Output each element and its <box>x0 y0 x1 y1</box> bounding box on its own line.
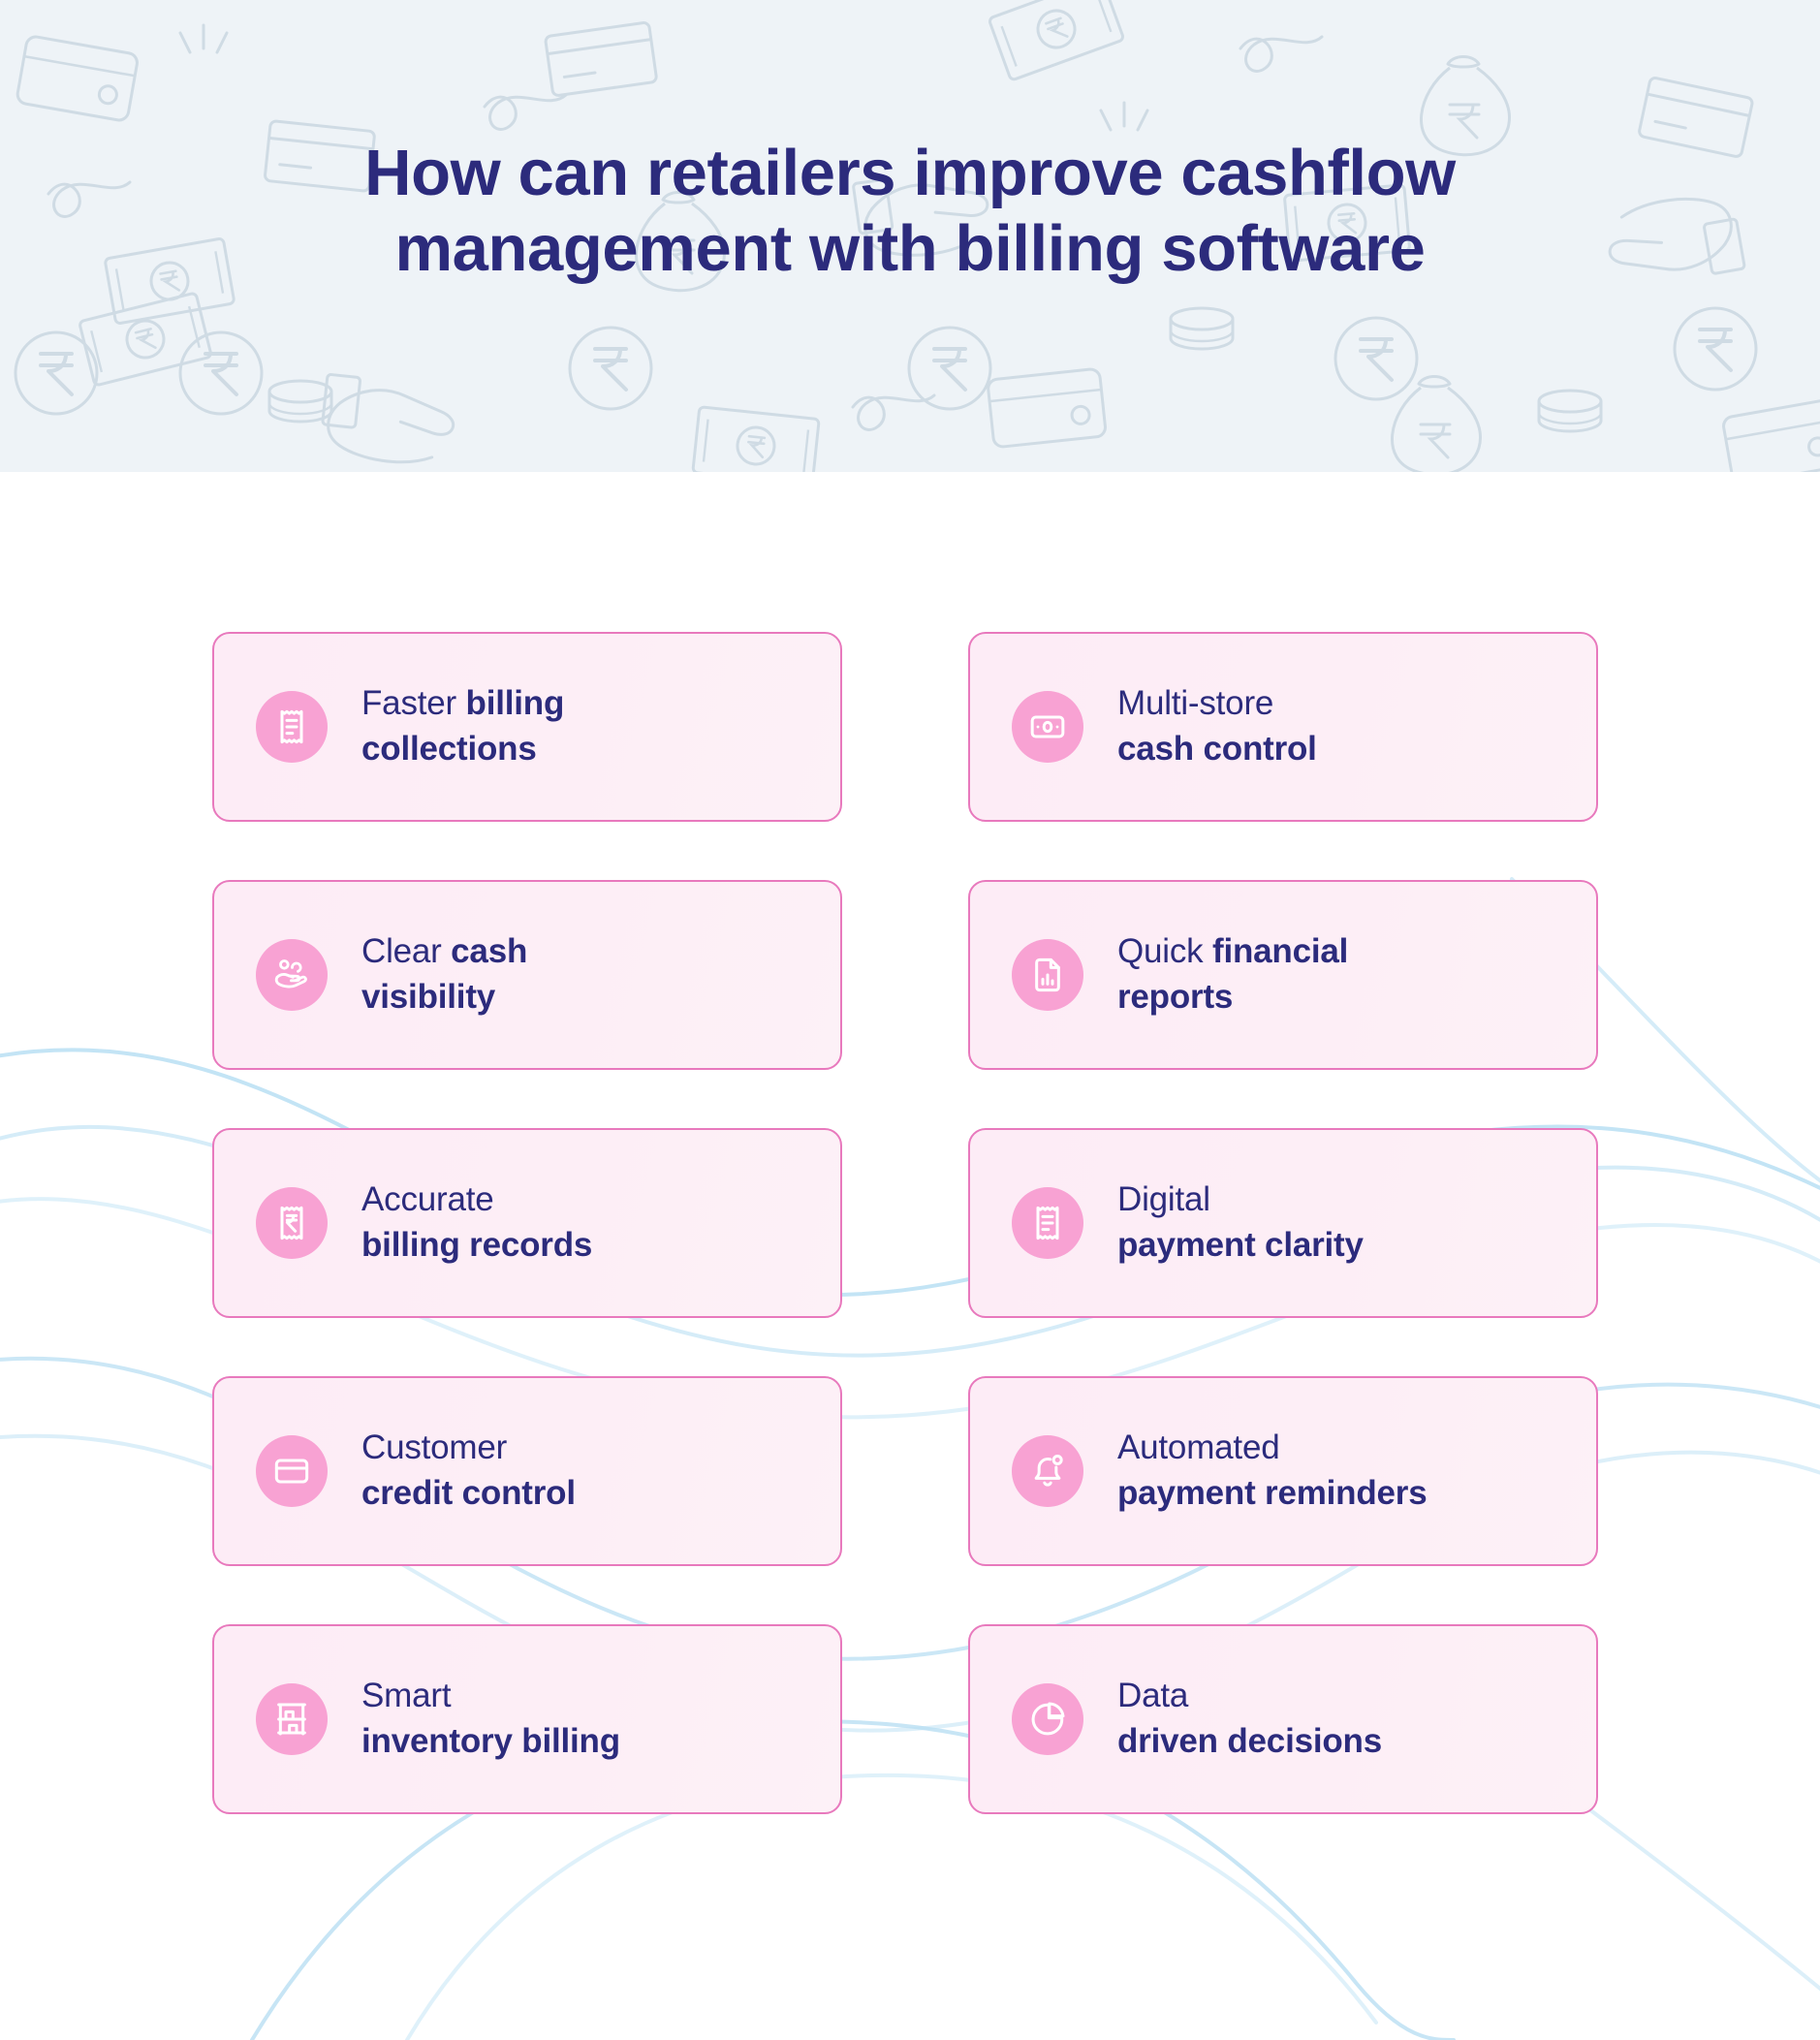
card-label-line2: reports <box>1117 975 1348 1020</box>
card-label-line1: Faster <box>361 684 466 722</box>
card-label-line1-bold: financial <box>1212 932 1348 970</box>
card-label: Multi-store cash control <box>1117 681 1317 772</box>
document-chart-icon <box>1012 939 1083 1011</box>
card-label: Automated payment reminders <box>1117 1426 1428 1517</box>
card-digital-payment-clarity[interactable]: Digital payment clarity <box>968 1128 1598 1318</box>
card-label-line2: visibility <box>361 975 527 1020</box>
card-label-line1: Automated <box>1117 1428 1279 1466</box>
card-label: Data driven decisions <box>1117 1674 1382 1765</box>
page-title: How can retailers improve cashflow manag… <box>0 136 1820 288</box>
card-smart-inventory-billing[interactable]: Smart inventory billing <box>212 1624 842 1814</box>
receipt-lines-icon <box>1012 1187 1083 1259</box>
receipt-icon <box>256 691 328 763</box>
card-quick-financial-reports[interactable]: Quick financial reports <box>968 880 1598 1070</box>
hand-coin-icon <box>256 939 328 1011</box>
card-label-line1: Accurate <box>361 1180 494 1218</box>
card-label-line2: collections <box>361 727 564 772</box>
rupee-receipt-icon <box>256 1187 328 1259</box>
card-label: Clear cash visibility <box>361 929 527 1020</box>
card-label: Quick financial reports <box>1117 929 1348 1020</box>
benefit-card-grid: Faster billing collections Multi-store c… <box>212 632 1598 1814</box>
page-title-line-2: management with billing software <box>0 211 1820 287</box>
card-label: Customer credit control <box>361 1426 576 1517</box>
card-label-line2: driven decisions <box>1117 1719 1382 1765</box>
card-label: Faster billing collections <box>361 681 564 772</box>
card-label-line2: cash control <box>1117 727 1317 772</box>
card-label: Smart inventory billing <box>361 1674 620 1765</box>
card-label-line1-bold: cash <box>451 932 527 970</box>
card-label-line1: Multi-store <box>1117 684 1273 722</box>
page-title-line-1: How can retailers improve cashflow <box>0 136 1820 211</box>
card-faster-billing-collections[interactable]: Faster billing collections <box>212 632 842 822</box>
card-data-driven-decisions[interactable]: Data driven decisions <box>968 1624 1598 1814</box>
card-accurate-billing-records[interactable]: Accurate billing records <box>212 1128 842 1318</box>
card-label-line2: credit control <box>361 1471 576 1517</box>
card-label: Accurate billing records <box>361 1177 592 1269</box>
card-label-line1: Quick <box>1117 932 1212 970</box>
card-label-line2: inventory billing <box>361 1719 620 1765</box>
card-label-line1: Customer <box>361 1428 507 1466</box>
card-label-line1: Digital <box>1117 1180 1210 1218</box>
card-label-line1: Clear <box>361 932 451 970</box>
credit-card-icon <box>256 1435 328 1507</box>
card-multi-store-cash-control[interactable]: Multi-store cash control <box>968 632 1598 822</box>
card-automated-payment-reminders[interactable]: Automated payment reminders <box>968 1376 1598 1566</box>
card-label-line1-bold: billing <box>466 684 565 722</box>
bell-notification-icon <box>1012 1435 1083 1507</box>
card-label-line2: payment clarity <box>1117 1223 1364 1269</box>
card-label-line2: payment reminders <box>1117 1471 1428 1517</box>
card-label-line1: Data <box>1117 1677 1188 1714</box>
card-customer-credit-control[interactable]: Customer credit control <box>212 1376 842 1566</box>
card-clear-cash-visibility[interactable]: Clear cash visibility <box>212 880 842 1070</box>
header-banner: How can retailers improve cashflow manag… <box>0 0 1820 472</box>
card-label-line1: Smart <box>361 1677 451 1714</box>
card-label: Digital payment clarity <box>1117 1177 1364 1269</box>
banknote-icon <box>1012 691 1083 763</box>
card-label-line2: billing records <box>361 1223 592 1269</box>
pie-chart-icon <box>1012 1683 1083 1755</box>
warehouse-shelf-icon <box>256 1683 328 1755</box>
